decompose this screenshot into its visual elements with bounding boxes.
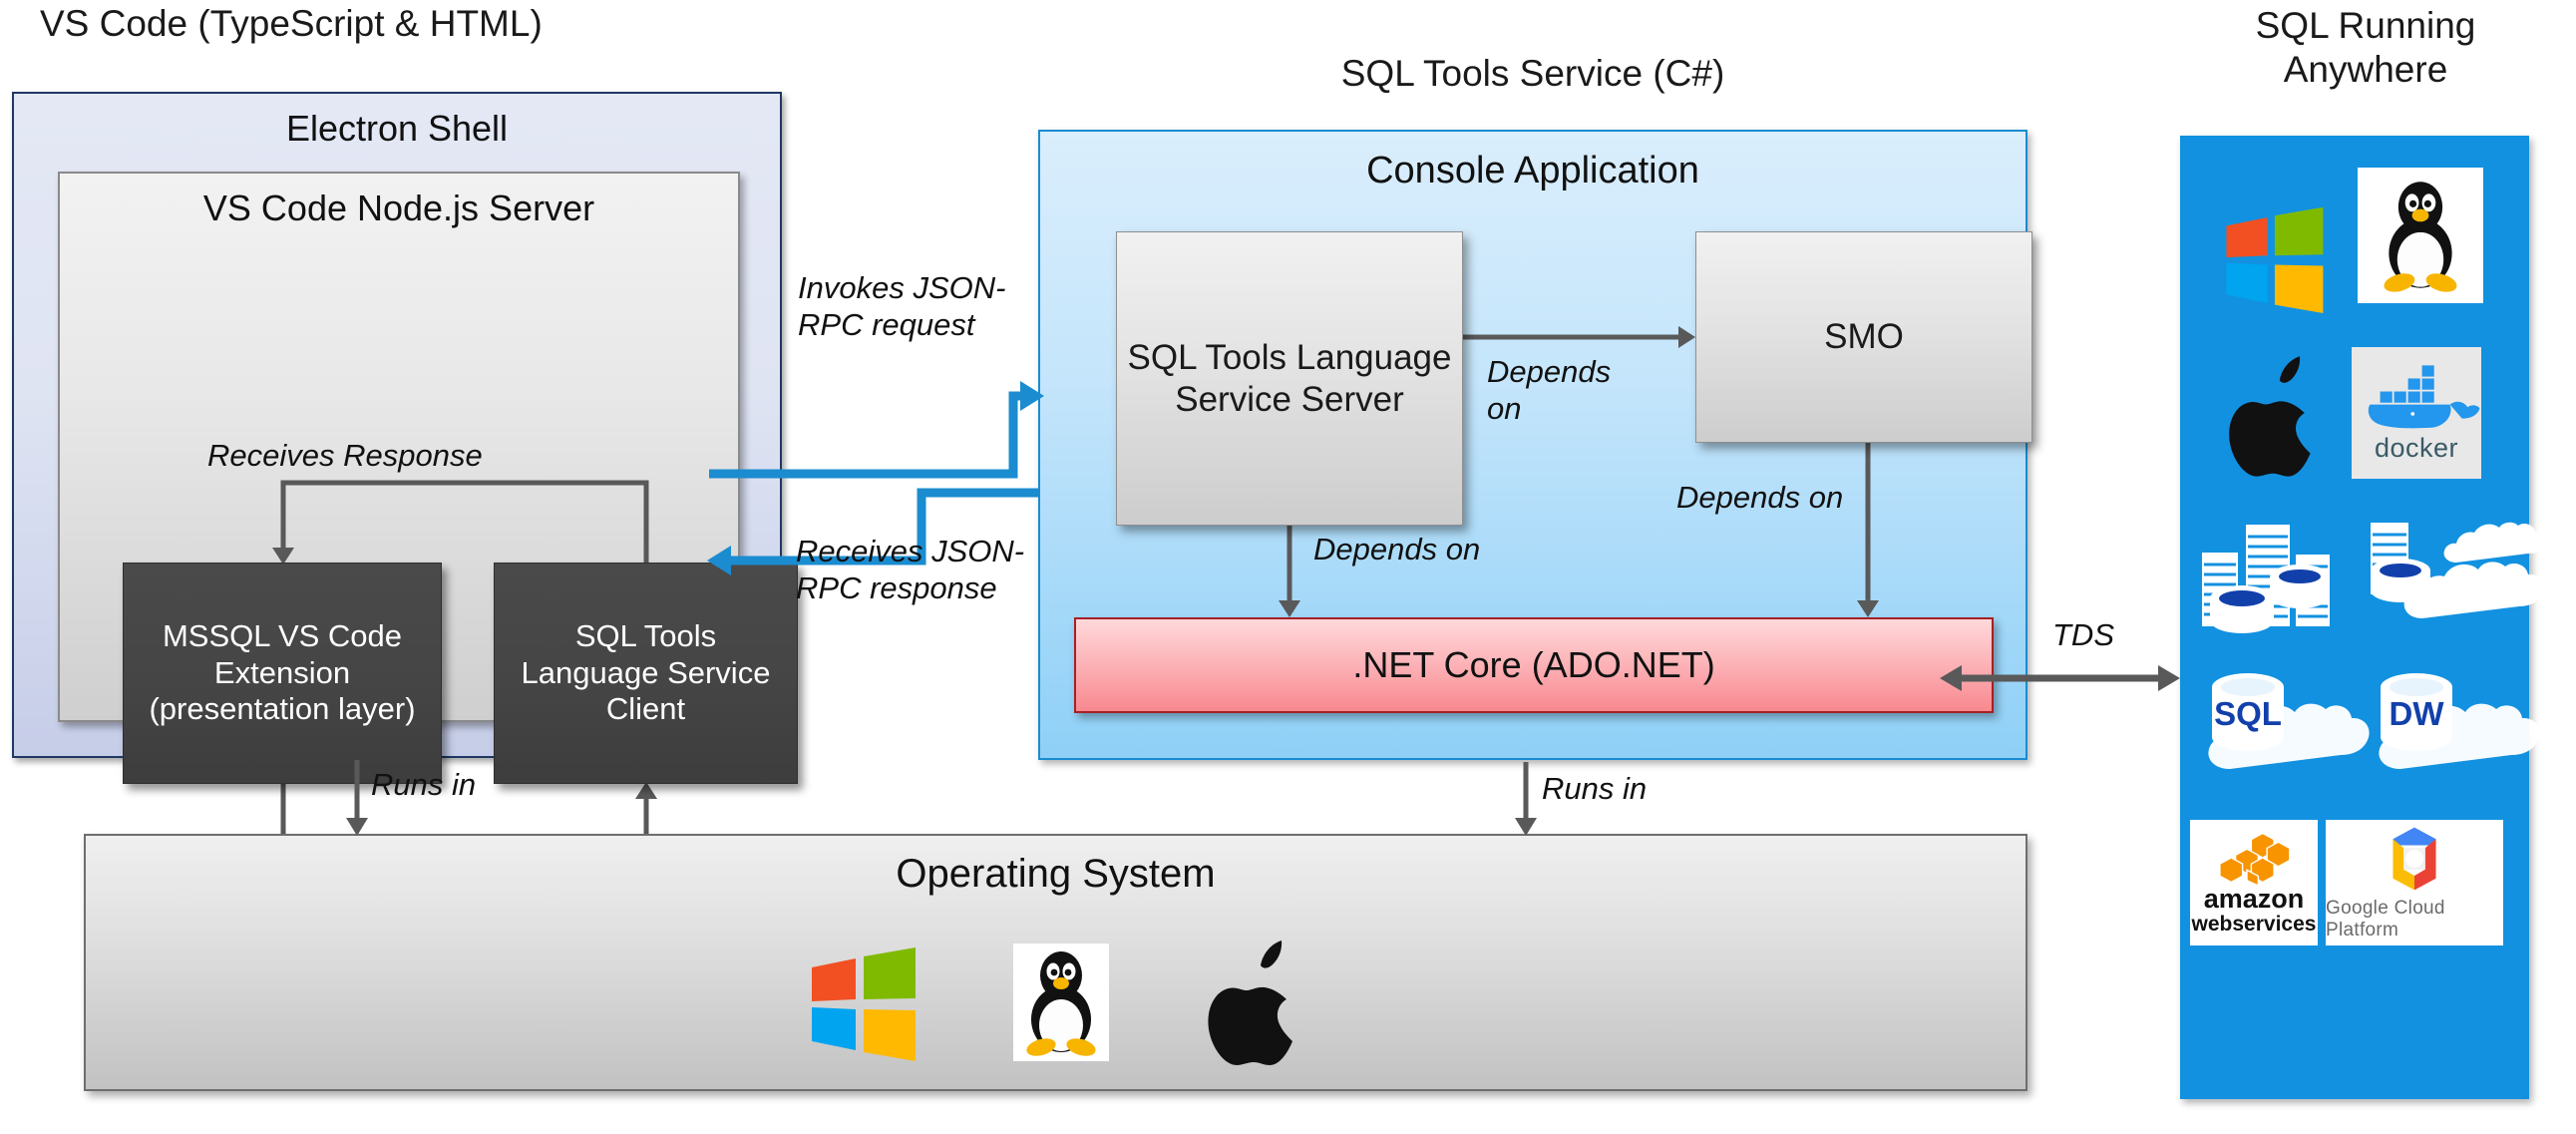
amazon-web-services-label: amazon — [2204, 886, 2305, 913]
sqltools-service-caption: SQL Tools Service (C#) — [1038, 52, 2027, 96]
invokes-json-rpc-request-label: Invokes JSON-RPC request — [798, 269, 1027, 343]
smo-depends-on-dotnet-label: Depends on — [1676, 479, 1843, 516]
mssql-vscode-extension-label: MSSQL VS Code Extension (presentation la… — [132, 618, 433, 728]
azure-sql-database-icon: SQL — [2190, 659, 2358, 791]
apple-logo — [1201, 940, 1308, 1065]
dotnet-core-box[interactable]: .NET Core (ADO.NET) — [1074, 617, 1994, 713]
azure-sql-data-warehouse-icon: DW — [2361, 659, 2528, 791]
sqltools-language-service-client-label: SQL Tools Language Service Client — [503, 618, 789, 728]
tds-connection-label: TDS — [2052, 616, 2114, 653]
sql-anywhere-linux-cell — [2358, 168, 2483, 303]
sql-anywhere-windows-cell — [2194, 184, 2354, 333]
amazon-web-services-sublabel: webservices — [2192, 913, 2317, 936]
operating-system-logos — [86, 928, 2025, 1077]
operating-system-panel: Operating System — [84, 834, 2027, 1091]
operating-system-title: Operating System — [86, 852, 2025, 897]
mssql-vscode-extension-box[interactable]: MSSQL VS Code Extension (presentation la… — [123, 563, 442, 784]
google-cloud-platform-label: Google Cloud Platform — [2326, 898, 2503, 942]
docker-logo — [2361, 363, 2472, 435]
sql-anywhere-azure-sql-db-cell: SQL — [2188, 650, 2360, 800]
service-runs-in-os-label: Runs in — [1542, 770, 1647, 807]
smo-box[interactable]: SMO — [1695, 231, 2032, 443]
sqltools-language-service-server-box[interactable]: SQL Tools Language Service Server — [1116, 231, 1463, 526]
sql-anywhere-caption: SQL Running Anywhere — [2176, 4, 2555, 91]
vscode-runs-in-os-label: Runs in — [371, 766, 476, 803]
electron-shell-title: Electron Shell — [14, 108, 780, 150]
on-premises-datacenter-icon — [2190, 511, 2358, 640]
sql-anywhere-aws-cell: amazon webservices — [2190, 820, 2318, 945]
sql-running-anywhere-panel: docker — [2180, 136, 2529, 1099]
docker-logo-text: docker — [2375, 433, 2458, 464]
smo-label: SMO — [1824, 316, 1904, 358]
sql-anywhere-onprem-cell — [2186, 501, 2362, 650]
azure-dw-label: DW — [2390, 695, 2445, 732]
windows-logo — [804, 944, 921, 1061]
linux-tux-logo — [1013, 944, 1109, 1061]
vscode-nodejs-server-panel: VS Code Node.js Server Receives Response… — [58, 172, 740, 722]
private-cloud-database-icon — [2361, 511, 2528, 640]
sql-anywhere-docker-cell: docker — [2352, 347, 2481, 479]
electron-shell-panel: Electron Shell VS Code Node.js Server Re… — [12, 92, 782, 758]
console-application-panel: Console Application Depends on Depends o… — [1038, 130, 2027, 760]
sql-anywhere-private-cloud-cell — [2360, 501, 2529, 650]
dotnet-core-label: .NET Core (ADO.NET) — [1352, 644, 1714, 686]
amazon-web-services-logo — [2212, 830, 2296, 886]
sql-anywhere-gcp-cell: Google Cloud Platform — [2326, 820, 2503, 945]
windows-logo — [2218, 203, 2330, 313]
apple-logo — [2222, 355, 2326, 477]
sql-anywhere-apple-cell — [2194, 341, 2354, 491]
azure-sql-database-label: SQL — [2214, 695, 2282, 732]
sqltools-language-service-server-label: SQL Tools Language Service Server — [1125, 337, 1454, 421]
linux-tux-logo — [2373, 178, 2468, 293]
sql-anywhere-azure-dw-cell: DW — [2360, 650, 2529, 800]
sqltools-language-service-client-box[interactable]: SQL Tools Language Service Client — [494, 563, 798, 784]
google-cloud-platform-logo — [2373, 824, 2456, 894]
receives-json-rpc-response-label: Receives JSON-RPC response — [796, 533, 1035, 606]
vscode-caption: VS Code (TypeScript & HTML) — [40, 2, 678, 46]
